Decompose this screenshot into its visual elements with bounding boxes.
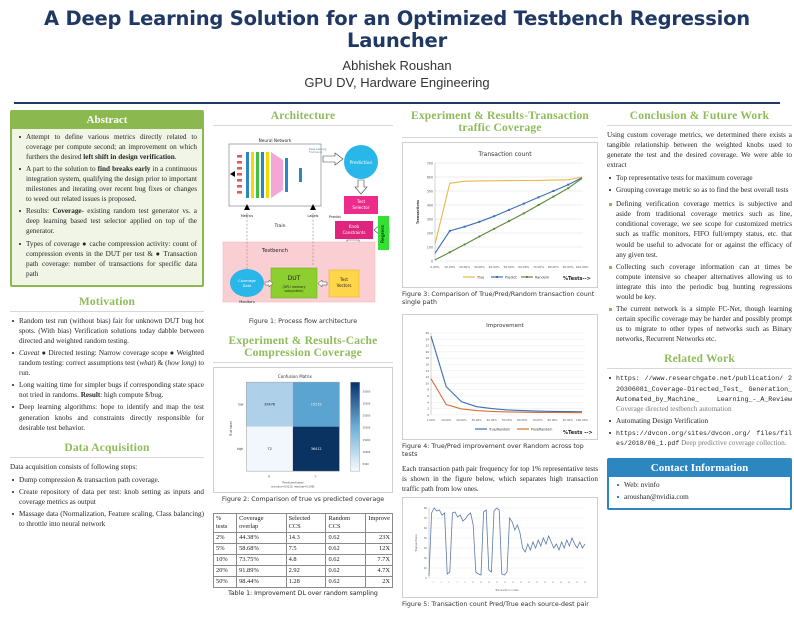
svg-text:Test: Test [356, 199, 366, 204]
table-row: 20% 91.89% 2.92 0.62 4.7X [214, 566, 393, 577]
svg-text:10: 10 [425, 381, 429, 385]
svg-text:23: 23 [520, 582, 523, 584]
col-header-selected-ccs: Selected CCS [286, 514, 326, 533]
data-acquisition-title: Data Acquisition [10, 442, 204, 456]
svg-text:100.00%: 100.00% [576, 265, 589, 269]
col-header-overlap: Coverage overlap [237, 514, 287, 533]
figure3-caption: Figure 3: Comparison of True/Pred/Random… [402, 291, 598, 308]
svg-text:27: 27 [536, 582, 539, 584]
svg-text:True label: True label [229, 421, 233, 437]
cell: 91.89% [237, 566, 287, 577]
svg-text:Knob: Knob [349, 224, 360, 229]
svg-text:Improvement: Improvement [486, 323, 524, 329]
svg-text:DUT: DUT [288, 275, 301, 282]
svg-text:50.00%: 50.00% [502, 418, 513, 422]
cell: 10% [214, 555, 237, 566]
cell: 0.62 [326, 533, 366, 544]
figure2-caption: Figure 2: Comparison of true vs predicte… [213, 496, 393, 505]
svg-text:13: 13 [480, 582, 483, 584]
contact-block: Contact Information Web: nvinfo aroushan… [607, 458, 792, 510]
svg-text:1.00%: 1.00% [427, 418, 436, 422]
svg-text:0: 0 [431, 259, 433, 263]
conclusion-intro: Using custom coverage metrics, we determ… [607, 130, 792, 170]
svg-text:Monitors: Monitors [239, 300, 255, 304]
svg-text:70.00%: 70.00% [532, 418, 543, 422]
list-item[interactable]: https://dvcon.org/sites/dvcon.org/ files… [616, 428, 792, 448]
svg-text:Pred/Random: Pred/Random [531, 427, 552, 431]
svg-text:700: 700 [427, 161, 433, 165]
svg-text:26: 26 [425, 331, 429, 335]
svg-text:0.00%: 0.00% [430, 265, 439, 269]
svg-text:Predicted label: Predicted label [282, 481, 303, 485]
chart-legend: True/Random Pred/Random [475, 427, 552, 431]
svg-text:31: 31 [552, 582, 555, 584]
cell: 98.44% [237, 577, 287, 588]
list-item: The current network is a simple FC-Net, … [616, 304, 792, 344]
svg-text:Regress: Regress [380, 224, 386, 243]
svg-text:15219: 15219 [311, 403, 322, 407]
svg-text:80.00%: 80.00% [548, 265, 559, 269]
svg-text:20: 20 [425, 350, 429, 354]
svg-text:15: 15 [488, 582, 491, 584]
svg-text:50.00%: 50.00% [503, 265, 514, 269]
cell: 4.8 [286, 555, 326, 566]
list-item: Defining verification coverage metrics i… [616, 199, 792, 259]
page-title: A Deep Learning Solution for an Optimize… [10, 8, 784, 52]
svg-text:4: 4 [427, 400, 429, 404]
table-row: 2% 44.38% 14.3 0.62 23X [214, 533, 393, 544]
author-block: Abhishek Roushan GPU DV, Hardware Engine… [10, 57, 784, 92]
abstract-block: Abstract Attempt to define various metri… [10, 110, 204, 287]
list-item: Collecting such coverage information can… [616, 262, 792, 302]
svg-text:Predict: Predict [329, 215, 341, 219]
svg-text:18: 18 [425, 356, 429, 360]
svg-text:300: 300 [427, 217, 433, 221]
svg-text:Predict: Predict [505, 275, 517, 279]
list-item: Dump compression & transaction path cove… [19, 475, 204, 485]
architecture-block: Architecture Neural Network [213, 110, 393, 327]
svg-text:accuracy=0.9123; misclass=0.14: accuracy=0.9123; misclass=0.1481 [271, 486, 315, 489]
figure1-caption: Figure 1: Process flow architecture [213, 318, 393, 327]
svg-text:17: 17 [496, 582, 499, 584]
svg-text:Transactions: Transactions [414, 534, 418, 553]
column-right: Conclusion & Future Work Using custom co… [607, 110, 792, 510]
svg-text:25000: 25000 [363, 415, 371, 418]
poster-columns: Abstract Attempt to define various metri… [0, 104, 794, 622]
svg-text:10000: 10000 [363, 451, 371, 454]
svg-text:36412: 36412 [311, 447, 322, 451]
divider [607, 125, 792, 126]
reference-note: Automating Design Verification [616, 417, 708, 425]
svg-text:30000: 30000 [363, 403, 371, 406]
cell: 4.7X [366, 566, 393, 577]
cell: 0.62 [326, 566, 366, 577]
list-item: Grouping coverage metric so as to find t… [616, 185, 792, 195]
data-acquisition-intro: Data acquisition consists of following s… [10, 462, 204, 472]
conclusion-title: Conclusion & Future Work [607, 110, 792, 124]
col-header-tests: % tests [214, 514, 237, 533]
cell: 23X [366, 533, 393, 544]
svg-text:Labels: Labels [308, 214, 319, 218]
svg-text:9: 9 [464, 582, 466, 584]
figure5-caption: Figure 5: Transaction count Pred/True ea… [402, 601, 598, 610]
motivation-block: Motivation Random test run (without bias… [10, 296, 204, 433]
svg-text:Prediction: Prediction [350, 160, 373, 166]
transaction-count-chart: Transaction count [405, 145, 595, 285]
svg-text:1: 1 [314, 474, 318, 478]
author-name: Abhishek Roushan [10, 57, 784, 75]
svg-text:%Tests-->: %Tests--> [563, 276, 591, 282]
svg-text:22: 22 [425, 343, 429, 347]
col-header-random-ccs: Random CCS [326, 514, 366, 533]
motivation-title: Motivation [10, 296, 204, 310]
svg-text:Metrics: Metrics [241, 214, 254, 218]
svg-text:20000: 20000 [363, 427, 371, 430]
list-item: Create repository of data per test: knob… [19, 487, 204, 507]
list-item: Automating Design Verification [616, 416, 792, 426]
architecture-figure: Neural Network [213, 130, 393, 327]
improvement-chart: Improvement 262422 [405, 317, 595, 437]
svg-text:0: 0 [427, 413, 429, 417]
svg-text:Neural Network: Neural Network [259, 138, 292, 143]
svg-text:True/Random: True/Random [488, 427, 510, 431]
svg-text:30.00%: 30.00% [474, 265, 485, 269]
list-item: Long waiting time for simpler bugs if co… [19, 380, 204, 400]
svg-text:Selector: Selector [352, 205, 369, 210]
abstract-bullets: Attempt to define various metrics direct… [17, 132, 197, 279]
cell: 2% [214, 533, 237, 544]
svg-text:14: 14 [425, 369, 429, 373]
cell: 2.92 [286, 566, 326, 577]
svg-text:8: 8 [427, 387, 429, 391]
table1-block: % tests Coverage overlap Selected CCS Ra… [213, 513, 393, 597]
svg-text:25: 25 [528, 582, 531, 584]
cell: 5% [214, 544, 237, 555]
svg-text:Vectors: Vectors [337, 283, 352, 288]
cell: 1.28 [286, 577, 326, 588]
confusion-matrix-chart: Confusion Matrix 39476 15219 72 36412 lo… [216, 370, 390, 489]
process-flow-diagram: Neural Network [213, 130, 393, 315]
svg-text:40.00%: 40.00% [489, 265, 500, 269]
related-work-block: Related Work https: //www.researchgate.n… [607, 353, 792, 448]
chart-legend: True Predict Random [463, 275, 550, 279]
svg-text:Coverage: Coverage [238, 279, 256, 283]
related-work-title: Related Work [607, 353, 792, 367]
svg-text:Constraints: Constraints [343, 230, 366, 235]
cell: 7.5 [286, 544, 326, 555]
svg-text:low: low [238, 403, 244, 407]
cell: 50% [214, 577, 237, 588]
svg-text:Test: Test [339, 277, 348, 282]
column-mid-left: Architecture Neural Network [213, 110, 393, 597]
conclusion-future-bullets: Defining verification coverage metrics i… [607, 199, 792, 344]
svg-text:100.00%: 100.00% [576, 418, 588, 422]
svg-text:37: 37 [576, 582, 579, 584]
svg-text:39476: 39476 [264, 403, 275, 407]
improvement-table: % tests Coverage overlap Selected CCS Ra… [213, 513, 393, 588]
table-row: 5% 58.68% 7.5 0.62 12X [214, 544, 393, 555]
motivation-bullets: Random test run (without bias) fair for … [10, 316, 204, 433]
svg-text:35: 35 [568, 582, 571, 584]
traffic-body-text: Each transaction path pair frequency for… [402, 464, 598, 494]
svg-text:Random: Random [535, 275, 550, 279]
list-item: Massage data (Normalization, Feature sca… [19, 509, 204, 529]
figure4-frame: Improvement 262422 [402, 314, 598, 440]
svg-text:70: 70 [424, 516, 428, 520]
list-item: Attempt to define various metrics direct… [26, 132, 197, 162]
svg-text:Transaction index: Transaction index [494, 588, 519, 592]
svg-text:30.00%: 30.00% [471, 418, 482, 422]
svg-text:30: 30 [424, 556, 428, 560]
svg-text:3: 3 [440, 582, 442, 584]
cell: 20% [214, 566, 237, 577]
svg-text:50: 50 [424, 536, 428, 540]
poster-root: A Deep Learning Solution for an Optimize… [0, 0, 794, 596]
svg-text:%Tests -->: %Tests --> [563, 430, 593, 436]
list-item[interactable]: aroushan@nvidia.com [624, 492, 785, 502]
svg-text:7: 7 [456, 582, 458, 584]
svg-text:Train: Train [273, 223, 285, 229]
architecture-title: Architecture [213, 110, 393, 124]
divider [213, 362, 393, 363]
svg-text:60.00%: 60.00% [517, 418, 528, 422]
svg-text:20: 20 [424, 566, 428, 570]
cache-section-title: Experiment & Results-Cache Compression C… [213, 335, 393, 361]
svg-text:20.00%: 20.00% [456, 418, 467, 422]
svg-text:Framework: Framework [309, 151, 323, 154]
conclusion-block: Conclusion & Future Work Using custom co… [607, 110, 792, 345]
divider [402, 137, 598, 138]
svg-text:72: 72 [267, 447, 271, 451]
svg-text:400: 400 [427, 203, 433, 207]
svg-text:10.00%: 10.00% [441, 418, 452, 422]
data-acquisition-bullets: Dump compression & transaction path cove… [10, 475, 204, 529]
related-work-list: https: //www.researchgate.net/publicatio… [607, 373, 792, 448]
svg-text:80: 80 [424, 506, 428, 510]
svg-text:90.00%: 90.00% [563, 265, 574, 269]
figure4-caption: Figure 4: True/Pred improvement over Ran… [402, 443, 598, 460]
column-mid-right: Experiment & Results-Transaction traffic… [402, 110, 598, 619]
svg-text:6: 6 [427, 394, 429, 398]
svg-text:80.00%: 80.00% [547, 418, 558, 422]
svg-text:33: 33 [560, 582, 563, 584]
table-row: 10% 73.75% 4.8 0.62 7.7X [214, 555, 393, 566]
list-item: Types of coverage ● cache compression ac… [26, 239, 197, 279]
cell: 12X [366, 544, 393, 555]
svg-text:19: 19 [504, 582, 507, 584]
svg-text:0: 0 [425, 576, 427, 580]
contact-list: Web: nvinfo aroushan@nvidia.com [615, 480, 785, 502]
list-item[interactable]: https: //www.researchgate.net/publicatio… [616, 373, 792, 414]
svg-text:60.00%: 60.00% [518, 265, 529, 269]
svg-text:500: 500 [427, 189, 433, 193]
svg-text:5: 5 [448, 582, 450, 584]
cell: 73.75% [237, 555, 287, 566]
divider [213, 125, 393, 126]
traffic-section-block: Experiment & Results-Transaction traffic… [402, 110, 598, 610]
divider [607, 368, 792, 369]
table-row: 50% 98.44% 1.28 0.62 2X [214, 577, 393, 588]
svg-text:100: 100 [427, 245, 433, 249]
cell: 0.62 [326, 544, 366, 555]
svg-text:16: 16 [425, 362, 429, 366]
svg-text:35000: 35000 [363, 391, 371, 394]
svg-text:high: high [237, 447, 244, 451]
cell: 14.3 [286, 533, 326, 544]
svg-text:39: 39 [584, 582, 587, 584]
figure5-frame: 807060 504030 200 Transactions 135 7911 … [402, 497, 598, 598]
divider [10, 311, 204, 312]
list-item: Random test run (without bias) fair for … [19, 316, 204, 346]
svg-text:1: 1 [432, 582, 434, 584]
list-item: A part to the solution to find breaks ea… [26, 164, 197, 204]
reference-note: Deep predictive coverage collection. [681, 439, 786, 447]
svg-text:10.00%: 10.00% [444, 265, 455, 269]
col-header-improve: Improve [366, 514, 393, 533]
svg-text:90.00%: 90.00% [563, 418, 574, 422]
svg-text:70.00%: 70.00% [533, 265, 544, 269]
abstract-title: Abstract [12, 112, 202, 129]
cell: 2X [366, 577, 393, 588]
conclusion-bullets: Top representative tests for maximum cov… [607, 173, 792, 195]
figure2-frame: Confusion Matrix 39476 15219 72 36412 lo… [213, 367, 393, 492]
svg-text:24: 24 [425, 337, 429, 341]
list-item: Web: nvinfo [624, 480, 785, 490]
svg-text:600: 600 [427, 175, 433, 179]
svg-text:60: 60 [424, 526, 428, 530]
list-item: Caveat ● Directed testing: Narrow covera… [19, 348, 204, 378]
svg-text:40.00%: 40.00% [487, 418, 498, 422]
poster-header: A Deep Learning Solution for an Optimize… [0, 0, 794, 96]
svg-text:200: 200 [427, 231, 433, 235]
svg-text:Transactions: Transactions [416, 200, 420, 224]
table1-caption: Table 1: Improvement DL over random samp… [213, 590, 393, 597]
svg-text:20.00%: 20.00% [459, 265, 470, 269]
figure3-frame: Transaction count [402, 142, 598, 288]
svg-text:5000: 5000 [363, 463, 370, 466]
svg-text:29: 29 [544, 582, 547, 584]
cell: 0.62 [326, 555, 366, 566]
svg-text:15000: 15000 [363, 439, 371, 442]
svg-text:subsystem): subsystem) [284, 289, 303, 293]
reference-url[interactable]: https: //www.researchgate.net/publicatio… [616, 375, 792, 402]
list-item: Deep learning algorithms: hope to identi… [19, 402, 204, 432]
list-item: Top representative tests for maximum cov… [616, 173, 792, 183]
cell: 44.38% [237, 533, 287, 544]
svg-text:40: 40 [424, 546, 428, 550]
cell: 0.62 [326, 577, 366, 588]
cell: 58.68% [237, 544, 287, 555]
column-left: Abstract Attempt to define various metri… [10, 110, 204, 538]
author-affiliation: GPU DV, Hardware Engineering [10, 74, 784, 92]
svg-text:21: 21 [512, 582, 515, 584]
svg-text:12: 12 [425, 375, 429, 379]
reference-note: Coverage directed testbench automation [616, 405, 732, 413]
contact-title: Contact Information [609, 460, 790, 477]
source-dest-chart: 807060 504030 200 Transactions 135 7911 … [405, 500, 595, 595]
cache-section-block: Experiment & Results-Cache Compression C… [213, 335, 393, 504]
svg-text:Data: Data [243, 284, 252, 288]
cell: 7.7X [366, 555, 393, 566]
traffic-section-title: Experiment & Results-Transaction traffic… [402, 110, 598, 136]
data-acquisition-block: Data Acquisition Data acquisition consis… [10, 442, 204, 529]
svg-text:Testbench: Testbench [261, 248, 288, 254]
svg-text:11: 11 [472, 582, 475, 584]
svg-text:Confusion Matrix: Confusion Matrix [278, 374, 313, 379]
svg-text:True: True [476, 275, 484, 279]
svg-text:0: 0 [267, 474, 271, 478]
divider [10, 457, 204, 458]
table-header-row: % tests Coverage overlap Selected CCS Ra… [214, 514, 393, 533]
svg-text:2: 2 [427, 406, 429, 410]
list-item: Results: Coverage- existing random test … [26, 206, 197, 236]
svg-text:Transaction count: Transaction count [477, 151, 532, 158]
